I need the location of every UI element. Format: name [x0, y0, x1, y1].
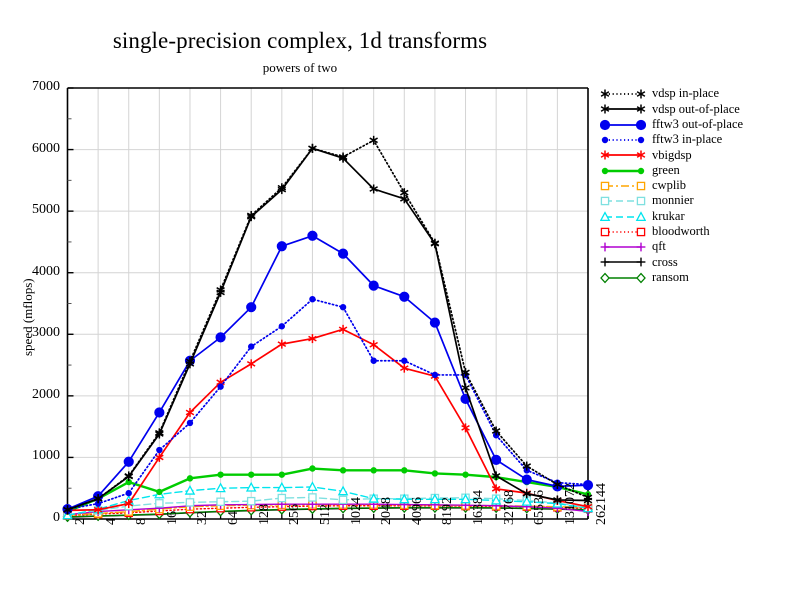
legend-item-label: fftw3 in-place [646, 133, 722, 146]
legend-item-cwplib[interactable]: cwplib [600, 178, 790, 193]
chart-container: single-precision complex, 1d transforms … [0, 0, 792, 612]
legend-item-fftw3-out-of-place[interactable]: fftw3 out-of-place [600, 117, 790, 132]
x-tick-label: 65536 [532, 490, 548, 525]
legend-item-ransom[interactable]: ransom [600, 270, 790, 285]
y-tick-label: 5000 [14, 202, 60, 218]
legend-item-cross[interactable]: cross [600, 254, 790, 269]
y-axis-label: speed (mflops) [20, 278, 36, 356]
legend-item-label: qft [646, 240, 666, 253]
legend-key-swatch [600, 239, 646, 254]
x-tick-label: 16 [165, 511, 181, 525]
y-tick-label: 3000 [14, 325, 60, 341]
legend-key-swatch [600, 193, 646, 208]
legend-item-label: vdsp in-place [646, 87, 719, 100]
legend-item-label: fftw3 out-of-place [646, 118, 743, 131]
legend-key-swatch [600, 178, 646, 193]
x-tick-label: 512 [318, 504, 334, 525]
legend-item-qft[interactable]: qft [600, 239, 790, 254]
y-tick-label: 6000 [14, 141, 60, 157]
x-tick-label: 16384 [471, 490, 487, 525]
chart-subtitle: powers of two [0, 60, 600, 76]
x-tick-label: 131072 [563, 483, 579, 525]
x-tick-label: 64 [226, 511, 242, 525]
legend-item-monnier[interactable]: monnier [600, 193, 790, 208]
legend-key-swatch [600, 101, 646, 116]
legend-key-swatch [600, 270, 646, 285]
x-tick-label: 4 [104, 518, 120, 525]
legend-item-vdsp-out-of-place[interactable]: vdsp out-of-place [600, 101, 790, 116]
y-tick-label: 2000 [14, 387, 60, 403]
legend-key-swatch [600, 147, 646, 162]
series-vdsp-out-of-place [64, 144, 592, 514]
y-tick-label: 1000 [14, 448, 60, 464]
legend-item-label: vdsp out-of-place [646, 103, 740, 116]
legend-item-label: cwplib [646, 179, 686, 192]
legend-item-fftw3-in-place[interactable]: fftw3 in-place [600, 132, 790, 147]
series-fftw3-out-of-place [63, 231, 593, 514]
y-tick-label: 7000 [14, 79, 60, 95]
x-tick-label: 4096 [410, 497, 426, 525]
legend-item-label: krukar [646, 210, 685, 223]
chart-title: single-precision complex, 1d transforms [0, 28, 600, 54]
legend-key-swatch [600, 132, 646, 147]
legend-item-label: ransom [646, 271, 689, 284]
legend-item-label: monnier [646, 194, 694, 207]
x-tick-label: 2048 [379, 497, 395, 525]
legend-key-swatch [600, 209, 646, 224]
legend-key-swatch [600, 224, 646, 239]
legend-item-green[interactable]: green [600, 162, 790, 177]
legend-key-swatch [600, 254, 646, 269]
x-tick-label: 1024 [349, 497, 365, 525]
x-tick-label: 256 [287, 504, 303, 525]
legend-item-vdsp-in-place[interactable]: vdsp in-place [600, 86, 790, 101]
x-tick-label: 8 [134, 518, 150, 525]
x-tick-label: 128 [257, 504, 273, 525]
x-tick-label: 2 [73, 518, 89, 525]
legend-item-bloodworth[interactable]: bloodworth [600, 224, 790, 239]
chart-legend: vdsp in-placevdsp out-of-placefftw3 out-… [600, 86, 790, 285]
legend-item-krukar[interactable]: krukar [600, 208, 790, 223]
legend-item-vbigdsp[interactable]: vbigdsp [600, 147, 790, 162]
legend-key-swatch [600, 163, 646, 178]
x-tick-label: 32 [195, 511, 211, 525]
legend-item-label: cross [646, 256, 678, 269]
legend-key-swatch [600, 86, 646, 101]
y-tick-label: 4000 [14, 264, 60, 280]
legend-key-swatch [600, 117, 646, 132]
x-tick-label: 32768 [502, 490, 518, 525]
x-tick-label: 262144 [594, 483, 610, 525]
legend-item-label: bloodworth [646, 225, 710, 238]
y-tick-label: 0 [14, 510, 60, 526]
legend-item-label: vbigdsp [646, 149, 692, 162]
legend-item-label: green [646, 164, 680, 177]
x-tick-label: 8192 [440, 497, 456, 525]
